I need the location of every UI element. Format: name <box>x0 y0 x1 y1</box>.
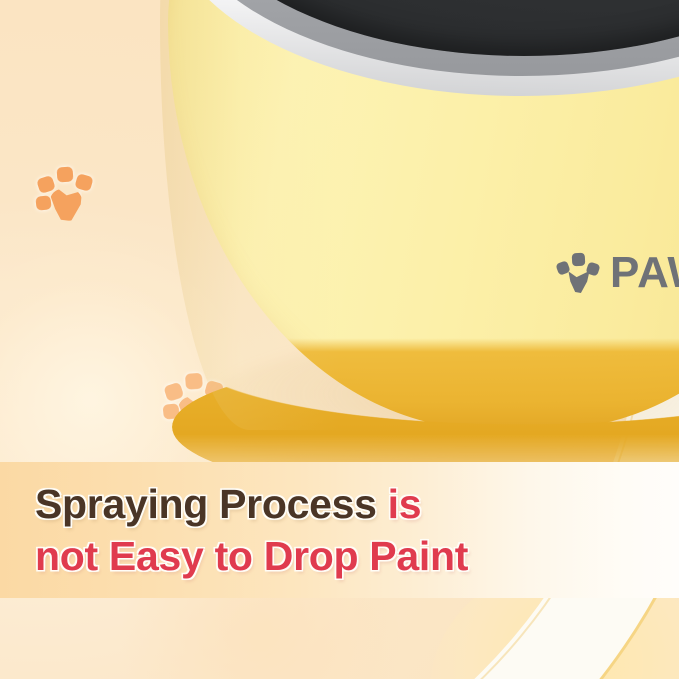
product-image-canvas: PAW Spraying Process is not Easy to Drop… <box>0 0 679 679</box>
paw-toe <box>555 260 570 275</box>
caption-line-2: not Easy to Drop Paint <box>35 530 655 582</box>
paw-toe <box>56 166 73 182</box>
paw-toe <box>163 382 184 402</box>
paw-toe <box>572 253 586 267</box>
paw-print-icon <box>557 252 601 294</box>
caption-text-group: Spraying Process is not Easy to Drop Pai… <box>35 478 655 582</box>
caption-line-1-accent: is <box>388 481 422 527</box>
caption-line-1: Spraying Process is <box>35 478 655 530</box>
paw-pad <box>567 269 591 293</box>
paw-toe <box>74 173 94 192</box>
paw-print-icon <box>34 165 98 225</box>
paw-print-icon <box>161 371 229 435</box>
paw-toe <box>204 380 225 400</box>
paw-toe <box>185 373 203 390</box>
brand-logo: PAW <box>557 251 679 295</box>
caption-line-1-primary: Spraying Process <box>35 481 377 527</box>
paw-pad <box>178 397 212 431</box>
paw-toe <box>162 403 179 419</box>
paw-toe <box>35 195 51 210</box>
paw-toe <box>36 175 56 194</box>
brand-logo-text: PAW <box>610 251 679 295</box>
paw-pad <box>50 189 82 221</box>
